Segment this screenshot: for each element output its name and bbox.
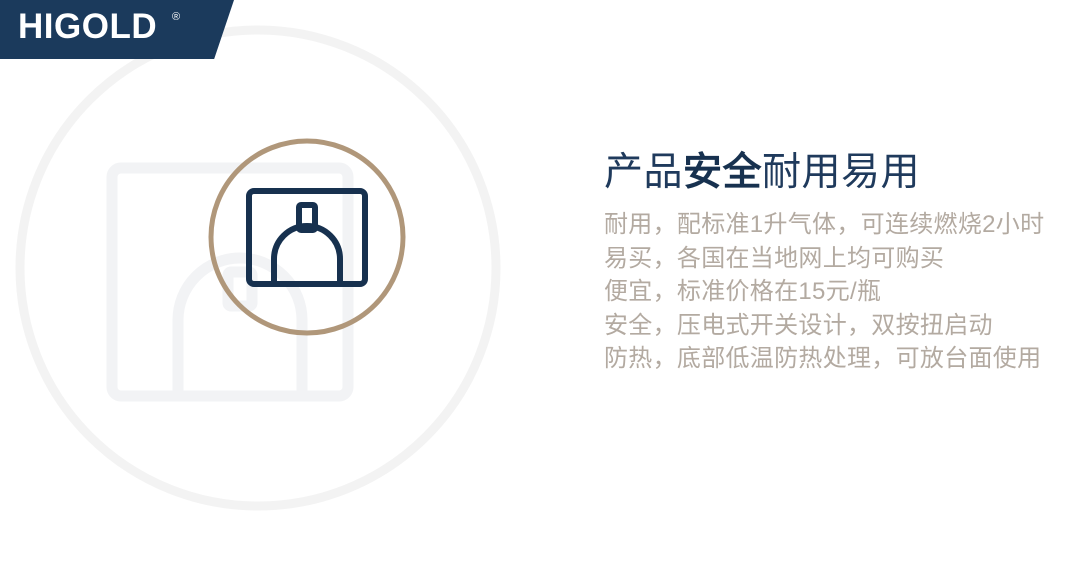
feature-text-block: 产品安全耐用易用 耐用，配标准1升气体，可连续燃烧2小时 易买，各国在当地网上均… xyxy=(604,150,1074,376)
brand-wordmark: HIGOLD xyxy=(18,9,157,44)
list-item: 安全，压电式开关设计，双按扭启动 xyxy=(604,309,1074,343)
headline-prefix: 产品 xyxy=(604,151,683,194)
registered-trademark-icon: ® xyxy=(172,12,180,23)
list-item: 防热，底部低温防热处理，可放台面使用 xyxy=(604,342,1074,376)
gas-burner-icon-svg xyxy=(206,136,408,338)
page-title: 产品安全耐用易用 xyxy=(604,150,1074,196)
headline-suffix: 耐用易用 xyxy=(762,151,920,194)
icon-dome xyxy=(274,226,340,284)
gas-burner-icon xyxy=(206,136,408,338)
list-item: 易买，各国在当地网上均可购买 xyxy=(604,242,1074,276)
list-item: 便宜，标准价格在15元/瓶 xyxy=(604,275,1074,309)
product-feature-slide: HIGOLD ® 产品安全耐用易用 耐用，配标准1升气体，可连续燃烧2小时 易买… xyxy=(0,0,1080,563)
icon-ring xyxy=(211,141,403,333)
list-item: 耐用，配标准1升气体，可连续燃烧2小时 xyxy=(604,208,1074,242)
feature-list: 耐用，配标准1升气体，可连续燃烧2小时 易买，各国在当地网上均可购买 便宜，标准… xyxy=(604,208,1074,376)
headline-accent: 安全 xyxy=(683,151,762,194)
brand-banner: HIGOLD ® xyxy=(0,0,234,59)
